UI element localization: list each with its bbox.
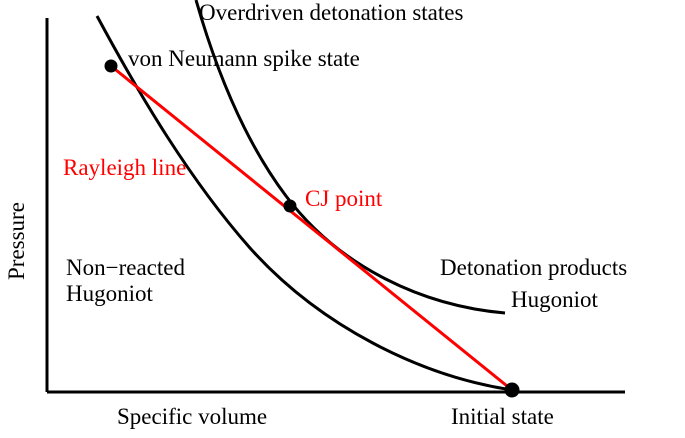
label-initial-state: Initial state bbox=[451, 404, 554, 430]
cj-point-marker bbox=[284, 200, 297, 213]
label-non-reacted-hugoniot: Non−reacted Hugoniot bbox=[66, 255, 185, 307]
specific-volume-axis-label: Specific volume bbox=[117, 404, 267, 430]
label-overdriven-detonation-states: Overdriven detonation states bbox=[199, 0, 463, 26]
initial-state-point bbox=[505, 383, 520, 398]
von-neumann-spike-point bbox=[105, 60, 118, 73]
label-cj-point: CJ point bbox=[305, 186, 382, 212]
pressure-axis-label: Pressure bbox=[4, 202, 30, 280]
label-detonation-products-hugoniot: Hugoniot bbox=[511, 287, 598, 313]
label-von-neumann-spike-state: von Neumann spike state bbox=[128, 46, 360, 72]
diagram-canvas: Overdriven detonation states von Neumann… bbox=[0, 0, 685, 438]
label-detonation-products: Detonation products bbox=[440, 255, 627, 281]
rayleigh-line bbox=[111, 66, 512, 390]
label-rayleigh-line: Rayleigh line bbox=[63, 155, 186, 181]
